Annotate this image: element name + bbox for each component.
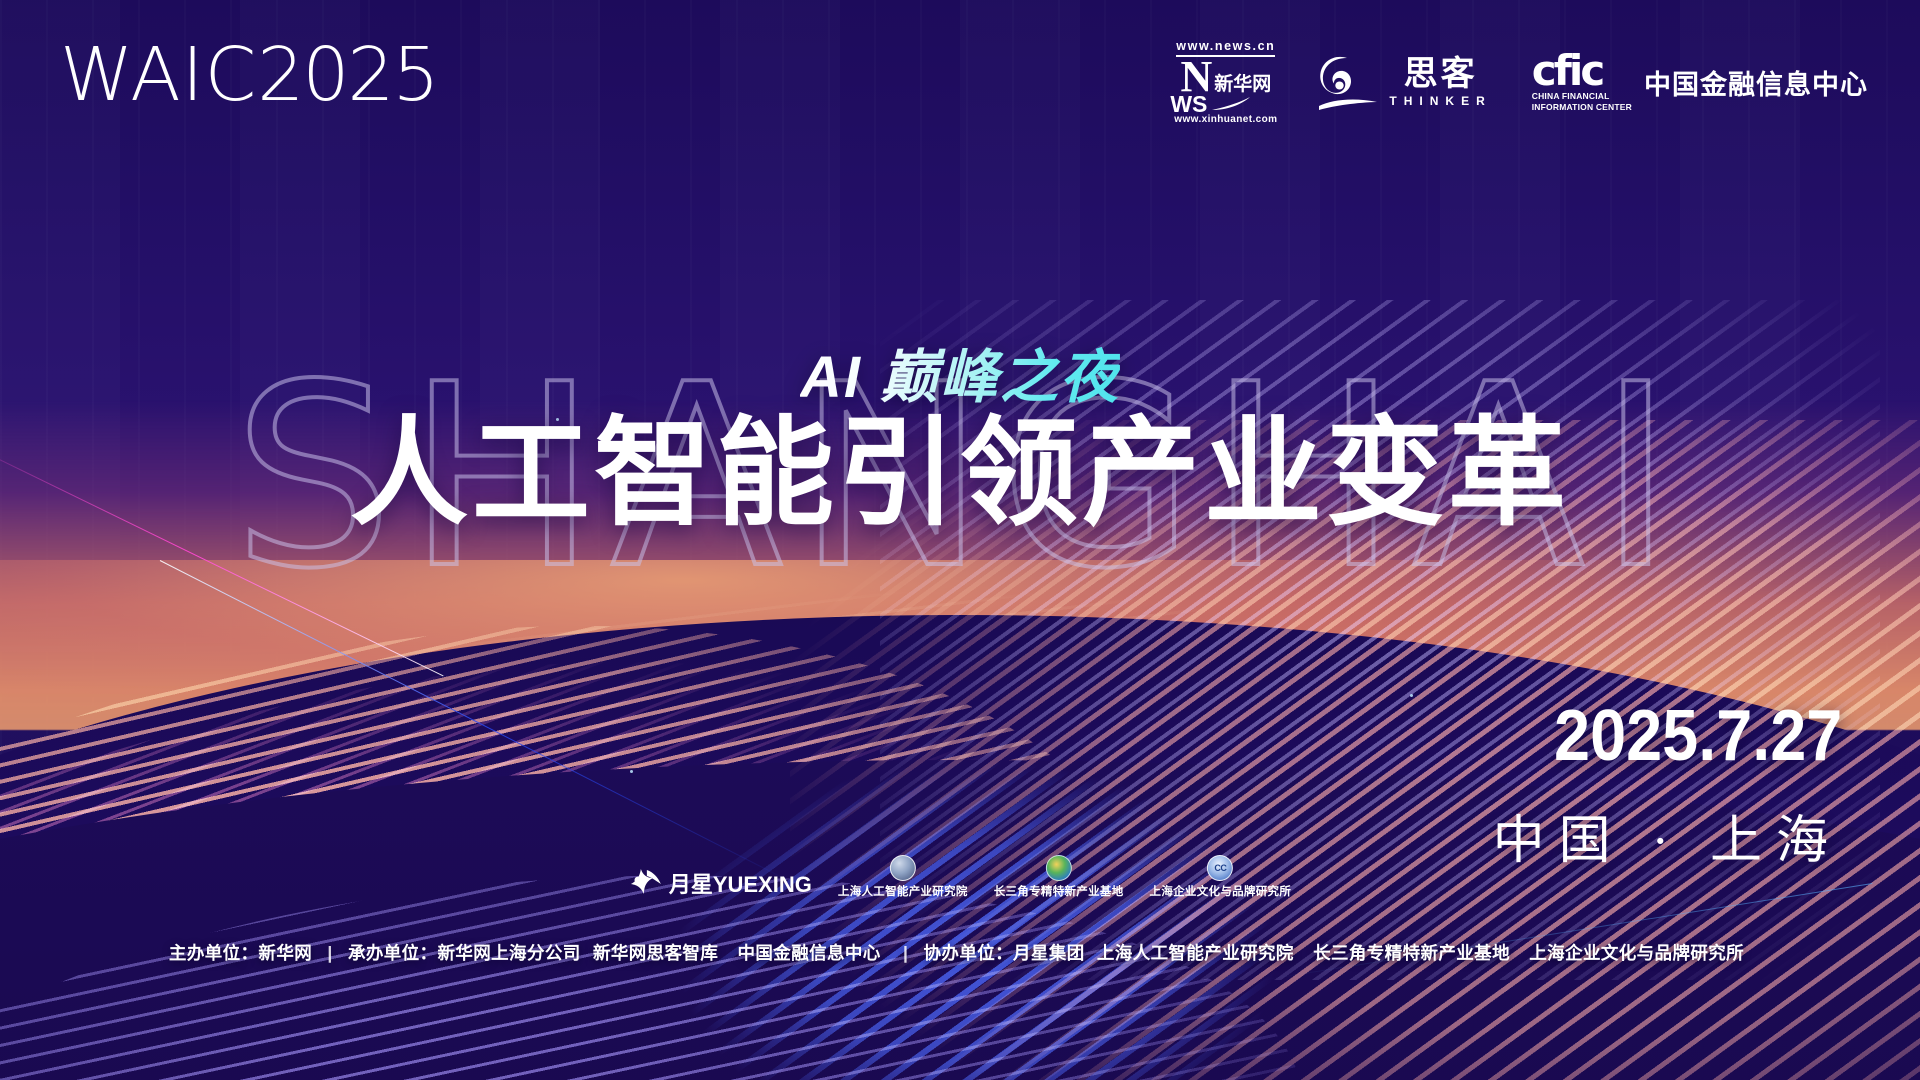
footer-coorganizer-3: 长三角专精特新产业基地 <box>1306 943 1517 963</box>
footer-organizer-2: 新华网思客智库 <box>586 943 725 963</box>
partner-logo-row: www.news.cn N 新华网 WS www.xinhuanet.com <box>1174 40 1868 125</box>
sponsor-name: 上海企业文化与品牌研究所 <box>1150 883 1292 899</box>
xinhuanet-logo[interactable]: www.news.cn N 新华网 WS www.xinhuanet.com <box>1174 40 1277 125</box>
cfic-chinese-name: 中国金融信息中心 <box>1644 63 1868 102</box>
sparkle-dot <box>630 770 633 773</box>
thinker-chinese: 思客 <box>1404 57 1478 91</box>
footer-organizer: 承办单位：新华网上海分公司 <box>348 943 581 963</box>
thinker-wordmark: 思客 THINKER <box>1389 57 1491 108</box>
footer-divider: | <box>317 943 342 963</box>
waic-logo-year: 2025 <box>257 32 437 118</box>
sponsor-corporate-culture-institute[interactable]: CC 上海企业文化与品牌研究所 <box>1150 855 1292 899</box>
sponsor-name: 上海人工智能产业研究院 <box>838 883 968 899</box>
sparkle-dot <box>1410 694 1413 697</box>
thinker-logo[interactable]: 思客 THINKER <box>1317 52 1491 112</box>
sponsor-name: 长三角专精特新产业基地 <box>994 883 1124 899</box>
footer-organizer-3: 中国金融信息中心 <box>731 943 888 963</box>
xinhua-url-bottom: www.xinhuanet.com <box>1174 115 1277 125</box>
brush-spiral-icon <box>1317 52 1379 112</box>
poster-header: WAIC2025 www.news.cn N 新华网 WS www.xinhua… <box>0 0 1920 150</box>
waic-logo: WAIC2025 <box>60 38 438 112</box>
footer-coorganizer-4: 上海企业文化与品牌研究所 <box>1522 943 1751 963</box>
sponsor-yangtze-delta-base[interactable]: 长三角专精特新产业基地 <box>994 855 1124 899</box>
xinhua-letter-n: N <box>1180 59 1212 95</box>
cc-circle-badge-icon: CC <box>1207 855 1233 881</box>
footer-coorganizer-2: 上海人工智能产业研究院 <box>1090 943 1301 963</box>
background-diagonal-blue <box>660 720 1380 1080</box>
event-date: 2025.7.27 <box>1528 700 1842 772</box>
yuexing-star-icon <box>629 868 663 898</box>
cfic-logo[interactable]: cfic CHINA FINANCIAL INFORMATION CENTER … <box>1532 52 1868 113</box>
footer-coorganizer: 协办单位：月星集团 <box>924 943 1085 963</box>
sponsor-name: 月星YUEXING <box>669 867 812 899</box>
event-headline: 人工智能引领产业变革 <box>350 415 1570 533</box>
event-place: 中国 · 上海 <box>1493 798 1842 873</box>
cfic-mark: cfic <box>1532 52 1632 90</box>
event-subtitle: AI 巅峰之夜 <box>800 330 1120 414</box>
footer-host: 主办单位：新华网 <box>169 943 312 963</box>
xinhua-mark-lower: WS <box>1200 95 1251 113</box>
sponsor-yuexing[interactable]: 月星YUEXING <box>629 867 812 899</box>
xinhua-letters-ws: WS <box>1170 95 1207 113</box>
poster-canvas: SHANGHAI WAIC2025 www.news.cn N 新华网 WS <box>0 0 1920 1080</box>
sponsor-logo-strip: 月星YUEXING 上海人工智能产业研究院 长三角专精特新产业基地 CC 上海企… <box>629 855 1291 899</box>
footer-divider: | <box>893 943 918 963</box>
waic-logo-text: WAIC <box>60 32 257 118</box>
yangtze-delta-badge-icon <box>1046 855 1072 881</box>
xinhua-swoosh-icon <box>1211 97 1251 111</box>
cfic-subtitle-line1: CHINA FINANCIAL <box>1532 91 1632 102</box>
cfic-mark-block: cfic CHINA FINANCIAL INFORMATION CENTER <box>1532 52 1632 113</box>
cfic-subtitle-line2: INFORMATION CENTER <box>1532 102 1632 113</box>
footer-credits: 主办单位：新华网 | 承办单位：新华网上海分公司 新华网思客智库 中国金融信息中… <box>0 940 1920 965</box>
sponsor-shanghai-ai-institute[interactable]: 上海人工智能产业研究院 <box>838 855 968 899</box>
xinhua-mark: N 新华网 <box>1180 59 1271 95</box>
xinhua-chinese-name: 新华网 <box>1214 75 1271 95</box>
globe-badge-icon <box>890 855 916 881</box>
thinker-english: THINKER <box>1389 94 1491 108</box>
event-date-block: 2025.7.27 中国 · 上海 <box>1493 700 1842 873</box>
